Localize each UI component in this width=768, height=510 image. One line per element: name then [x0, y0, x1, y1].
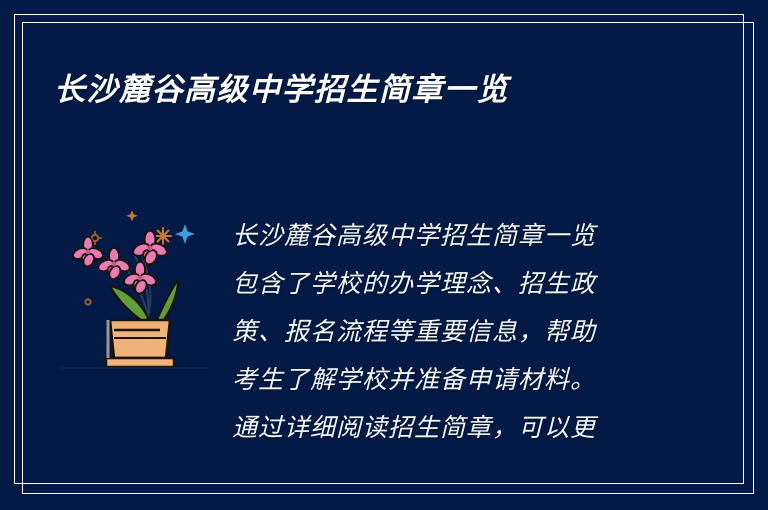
flower-pot	[106, 320, 174, 367]
body-line-4: 考生了解学校并准备申请材料。	[232, 356, 652, 404]
flower-blossoms	[71, 231, 168, 296]
sparkle-blue-star	[175, 224, 195, 244]
leaf-right	[156, 280, 178, 324]
body-line-5: 通过详细阅读招生简章，可以更	[232, 404, 652, 452]
body-line-1: 长沙麓谷高级中学招生简章一览	[232, 212, 652, 260]
page-title: 长沙麓谷高级中学招生简章一览	[54, 64, 509, 109]
body-line-2: 包含了学校的办学理念、招生政	[232, 260, 652, 308]
sparkle-orange-small	[126, 210, 138, 222]
body-paragraph: 长沙麓谷高级中学招生简章一览 包含了学校的办学理念、招生政 策、报名流程等重要信…	[232, 212, 652, 452]
sparkle-orange-dot	[85, 299, 90, 304]
sparkle-orange-burst	[155, 228, 171, 244]
pot-saucer	[106, 358, 174, 367]
poster-canvas: 长沙麓谷高级中学招生简章一览	[0, 0, 768, 510]
potted-plant-illustration	[52, 190, 217, 385]
body-line-3: 策、报名流程等重要信息，帮助	[232, 308, 652, 356]
